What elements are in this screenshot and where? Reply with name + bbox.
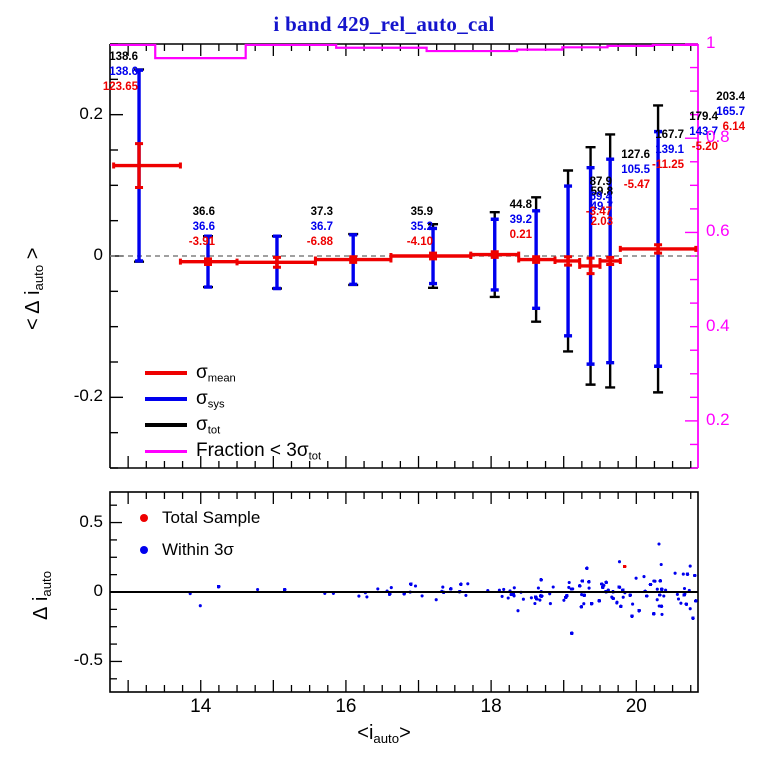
- bin-1-sigma-tot-label: 138.6: [0, 50, 138, 65]
- legend-label-total-sample: Total Sample: [162, 508, 260, 528]
- legend-swatch-sigma-mean: [145, 371, 187, 375]
- bottom-ytick-label: -0.5: [45, 650, 103, 670]
- bin-10-sigma-mean-label: -5.20: [0, 140, 718, 155]
- legend-dot-within-3sigma: [140, 546, 148, 554]
- x-tick-label: 16: [324, 696, 368, 718]
- legend-item-total-sample: Total Sample: [140, 508, 260, 528]
- legend-label-within-3sigma: Within 3σ: [162, 540, 234, 560]
- legend-label-sigma-sys: σsys: [196, 388, 225, 411]
- legend-item-sigma-mean: σmean: [145, 362, 236, 385]
- x-tick-label: 18: [469, 696, 513, 718]
- bin-11-sigma-mean-label: 6.14: [0, 120, 745, 135]
- legend-dot-total-sample: [140, 514, 148, 522]
- legend-item-sigma-tot: σtot: [145, 414, 220, 437]
- bin-1-sigma-sys-label: 138.6: [0, 65, 138, 80]
- legend-label-fraction: Fraction < 3σtot: [196, 440, 321, 463]
- bottom-ytick-label: 0.5: [45, 512, 103, 532]
- legend-swatch-sigma-tot: [145, 423, 187, 427]
- bin-7-sigma-mean-label: -3.47: [0, 205, 612, 220]
- legend-item-sigma-sys: σsys: [145, 388, 225, 411]
- bin-11-sigma-sys-label: 165.7: [0, 105, 745, 120]
- bin-label-group-11: 203.4165.76.14: [0, 90, 745, 135]
- bottom-ytick-label: 0: [45, 581, 103, 601]
- fraction-ytick-label: 1: [706, 33, 715, 53]
- legend-item-within-3sigma: Within 3σ: [140, 540, 234, 560]
- bin-5-sigma-mean-label: 0.21: [0, 228, 532, 243]
- top-ytick-label: 0: [45, 245, 103, 265]
- x-tick-label: 20: [614, 696, 658, 718]
- fraction-ytick-label: 0.6: [706, 221, 730, 241]
- chart-root: i band 429_rel_auto_cal < Δ iauto > Δ ia…: [0, 0, 768, 774]
- chart-overlay: 138.6138.6123.6536.636.6-3.9137.336.7-6.…: [0, 0, 768, 774]
- legend-label-sigma-tot: σtot: [196, 414, 220, 437]
- x-tick-label: 14: [179, 696, 223, 718]
- fraction-ytick-label: 0.8: [706, 127, 730, 147]
- legend-label-sigma-mean: σmean: [196, 362, 236, 385]
- bin-9-sigma-mean-label: -11.25: [0, 158, 684, 173]
- legend-swatch-sigma-sys: [145, 397, 187, 401]
- legend-swatch-fraction: [145, 450, 187, 453]
- bin-8-sigma-mean-label: -5.47: [0, 178, 650, 193]
- bin-11-sigma-tot-label: 203.4: [0, 90, 745, 105]
- top-ytick-label: -0.2: [45, 386, 103, 406]
- fraction-ytick-label: 0.2: [706, 410, 730, 430]
- top-ytick-label: 0.2: [45, 104, 103, 124]
- fraction-ytick-label: 0.4: [706, 316, 730, 336]
- bin-label-group-1: 138.6138.6123.65: [0, 50, 138, 95]
- legend-item-fraction: Fraction < 3σtot: [145, 440, 321, 463]
